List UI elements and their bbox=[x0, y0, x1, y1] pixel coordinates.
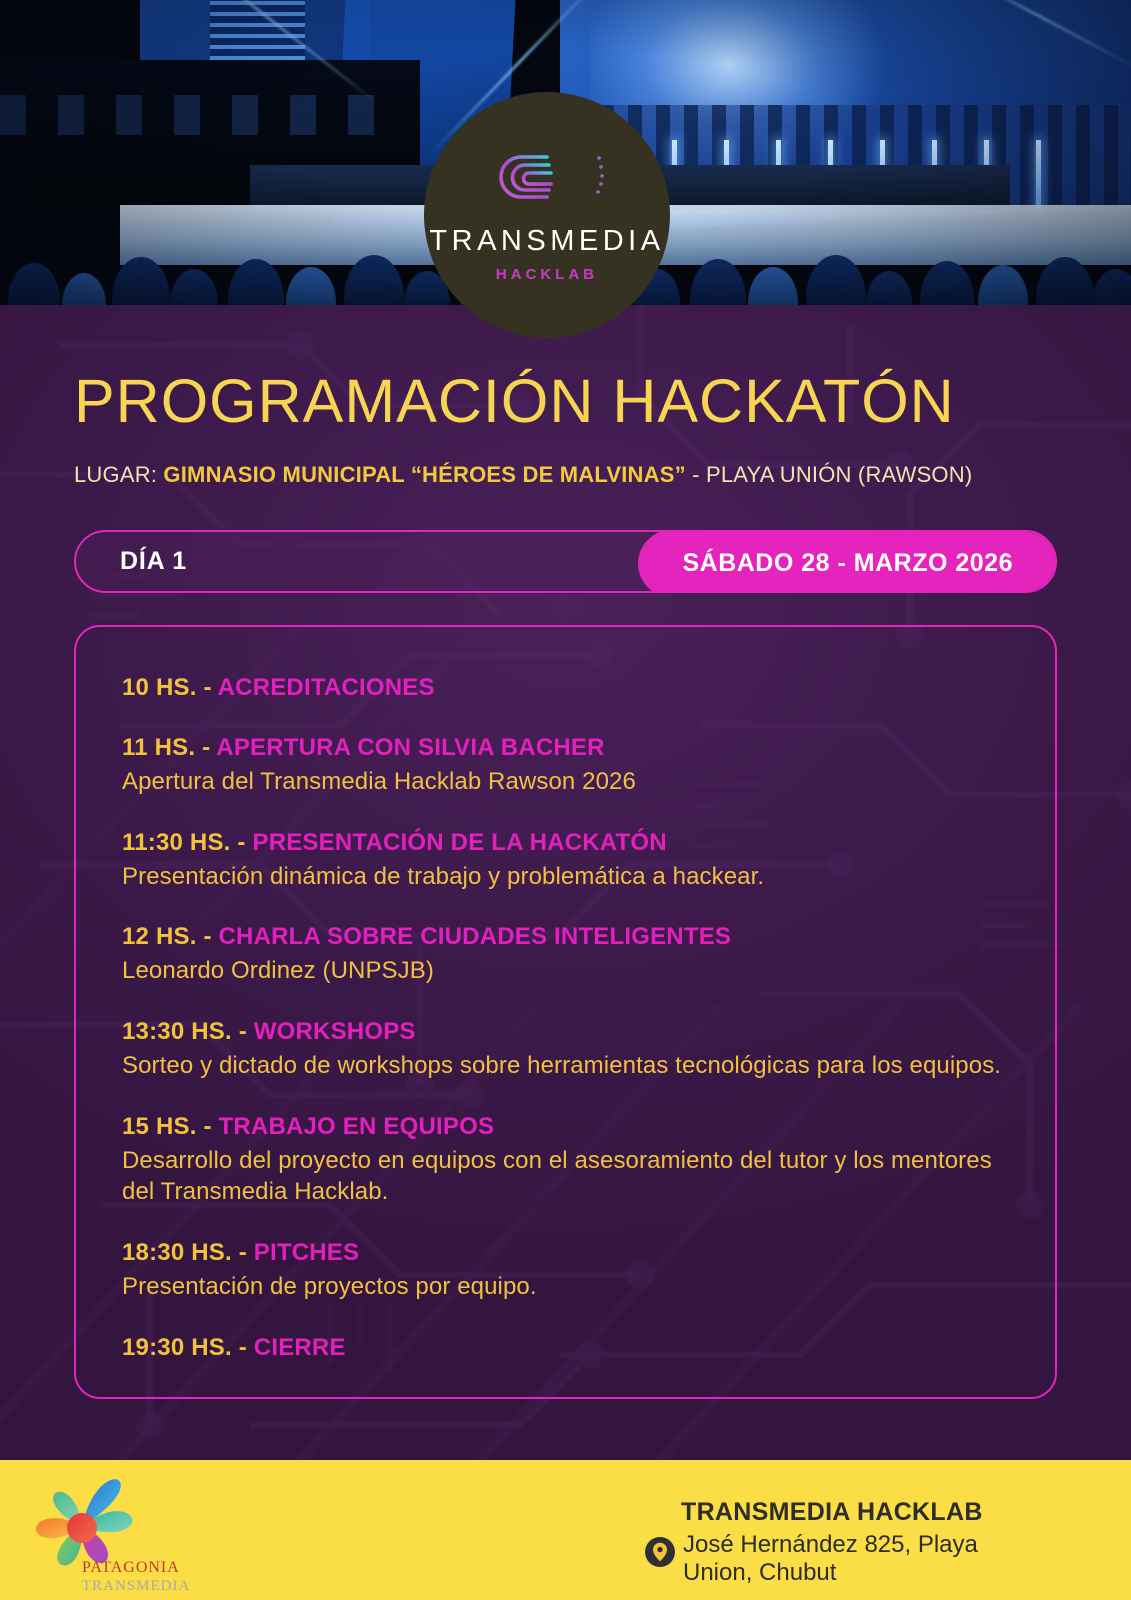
schedule-item-time: 12 HS. bbox=[122, 923, 197, 950]
schedule-item-heading: 13:30 HS. - WORKSHOPS bbox=[122, 1017, 1009, 1047]
schedule-item-time: 19:30 HS. bbox=[122, 1334, 232, 1361]
schedule-item-heading: 18:30 HS. - PITCHES bbox=[122, 1238, 1009, 1268]
transmedia-swoosh-icon bbox=[487, 147, 607, 209]
schedule-item-title: TRABAJO EN EQUIPOS bbox=[219, 1113, 495, 1140]
schedule-item: 10 HS. - ACREDITACIONES bbox=[122, 673, 1009, 703]
schedule-item: 11 HS. - APERTURA CON SILVIA BACHERApert… bbox=[122, 733, 1009, 798]
footer-bar: PATAGONIA TRANSMEDIA TRANSMEDIA HACKLAB … bbox=[0, 1460, 1131, 1600]
schedule-item-description: Presentación de proyectos por equipo. bbox=[122, 1271, 1009, 1303]
location-pin-icon bbox=[645, 1537, 675, 1567]
schedule-item-time: 13:30 HS. bbox=[122, 1018, 232, 1045]
day-label: DÍA 1 bbox=[76, 547, 187, 576]
schedule-item-time: 10 HS. bbox=[122, 674, 197, 701]
schedule-item-dash: - bbox=[195, 734, 216, 761]
schedule-item-title: ACREDITACIONES bbox=[218, 674, 435, 701]
main-content: PROGRAMACIÓN HACKATÓN LUGAR: GIMNASIO MU… bbox=[0, 305, 1131, 1399]
schedule-item: 11:30 HS. - PRESENTACIÓN DE LA HACKATÓNP… bbox=[122, 828, 1009, 893]
schedule-item-heading: 19:30 HS. - CIERRE bbox=[122, 1333, 1009, 1363]
schedule-item-title: APERTURA CON SILVIA BACHER bbox=[216, 734, 604, 761]
schedule-card: 10 HS. - ACREDITACIONES11 HS. - APERTURA… bbox=[74, 625, 1057, 1399]
schedule-item-dash: - bbox=[232, 1334, 254, 1361]
footer-address-row: José Hernández 825, Playa Union, Chubut bbox=[645, 1531, 1013, 1586]
schedule-item: 12 HS. - CHARLA SOBRE CIUDADES INTELIGEN… bbox=[122, 922, 1009, 987]
schedule-item-time: 15 HS. bbox=[122, 1113, 197, 1140]
day-date-badge: SÁBADO 28 - MARZO 2026 bbox=[638, 530, 1057, 593]
schedule-item-dash: - bbox=[197, 674, 218, 701]
schedule-item-description: Sorteo y dictado de workshops sobre herr… bbox=[122, 1050, 1009, 1082]
schedule-item-heading: 10 HS. - ACREDITACIONES bbox=[122, 673, 1009, 703]
transmedia-hacklab-logo-badge: TRANSMEDIA HACKLAB bbox=[424, 92, 670, 338]
schedule-item-time: 11 HS. bbox=[122, 734, 195, 761]
schedule-item: 19:30 HS. - CIERRE bbox=[122, 1333, 1009, 1363]
schedule-item-heading: 11:30 HS. - PRESENTACIÓN DE LA HACKATÓN bbox=[122, 828, 1009, 858]
schedule-item-heading: 11 HS. - APERTURA CON SILVIA BACHER bbox=[122, 733, 1009, 763]
schedule-item: 13:30 HS. - WORKSHOPSSorteo y dictado de… bbox=[122, 1017, 1009, 1082]
schedule-item: 18:30 HS. - PITCHESPresentación de proye… bbox=[122, 1238, 1009, 1303]
schedule-item-dash: - bbox=[231, 829, 253, 856]
schedule-item-description: Leonardo Ordinez (UNPSJB) bbox=[122, 955, 1009, 987]
logo-wordmark: TRANSMEDIA bbox=[429, 225, 664, 258]
venue-label: LUGAR: bbox=[74, 462, 157, 487]
schedule-item-title: PRESENTACIÓN DE LA HACKATÓN bbox=[252, 829, 666, 856]
logo-subwordmark: HACKLAB bbox=[496, 266, 598, 283]
schedule-item-title: CIERRE bbox=[254, 1334, 346, 1361]
schedule-item-time: 18:30 HS. bbox=[122, 1239, 232, 1266]
venue-line: LUGAR: GIMNASIO MUNICIPAL “HÉROES DE MAL… bbox=[0, 462, 1131, 488]
page-title: PROGRAMACIÓN HACKATÓN bbox=[0, 371, 1131, 432]
partner-line1: PATAGONIA bbox=[82, 1559, 180, 1576]
schedule-item-dash: - bbox=[232, 1018, 254, 1045]
schedule-item-description: Presentación dinámica de trabajo y probl… bbox=[122, 861, 1009, 893]
schedule-item-time: 11:30 HS. bbox=[122, 829, 231, 856]
schedule-item-title: PITCHES bbox=[254, 1239, 359, 1266]
venue-city: - PLAYA UNIÓN (RAWSON) bbox=[692, 462, 972, 487]
schedule-item-title: CHARLA SOBRE CIUDADES INTELIGENTES bbox=[219, 923, 732, 950]
footer-address: José Hernández 825, Playa Union, Chubut bbox=[683, 1531, 1013, 1586]
schedule-item: 15 HS. - TRABAJO EN EQUIPOSDesarrollo de… bbox=[122, 1112, 1009, 1208]
schedule-item-title: WORKSHOPS bbox=[254, 1018, 416, 1045]
schedule-item-description: Apertura del Transmedia Hacklab Rawson 2… bbox=[122, 766, 1009, 798]
schedule-item-heading: 15 HS. - TRABAJO EN EQUIPOS bbox=[122, 1112, 1009, 1142]
footer-org-name: TRANSMEDIA HACKLAB bbox=[681, 1498, 1013, 1527]
patagonia-transmedia-pinwheel-icon: PATAGONIA TRANSMEDIA bbox=[30, 1474, 195, 1596]
schedule-item-heading: 12 HS. - CHARLA SOBRE CIUDADES INTELIGEN… bbox=[122, 922, 1009, 952]
footer-info: TRANSMEDIA HACKLAB José Hernández 825, P… bbox=[645, 1498, 1013, 1586]
schedule-item-description: Desarrollo del proyecto en equipos con e… bbox=[122, 1145, 1009, 1208]
poster-root: TRANSMEDIA HACKLAB PROGRAMACIÓN HACKATÓN… bbox=[0, 0, 1131, 1600]
partner-line2: TRANSMEDIA bbox=[82, 1578, 190, 1594]
day-pill: DÍA 1 SÁBADO 28 - MARZO 2026 bbox=[74, 530, 1057, 593]
venue-name: GIMNASIO MUNICIPAL “HÉROES DE MALVINAS” bbox=[163, 462, 685, 487]
schedule-item-dash: - bbox=[197, 1113, 219, 1140]
schedule-item-dash: - bbox=[232, 1239, 254, 1266]
schedule-item-dash: - bbox=[197, 923, 219, 950]
